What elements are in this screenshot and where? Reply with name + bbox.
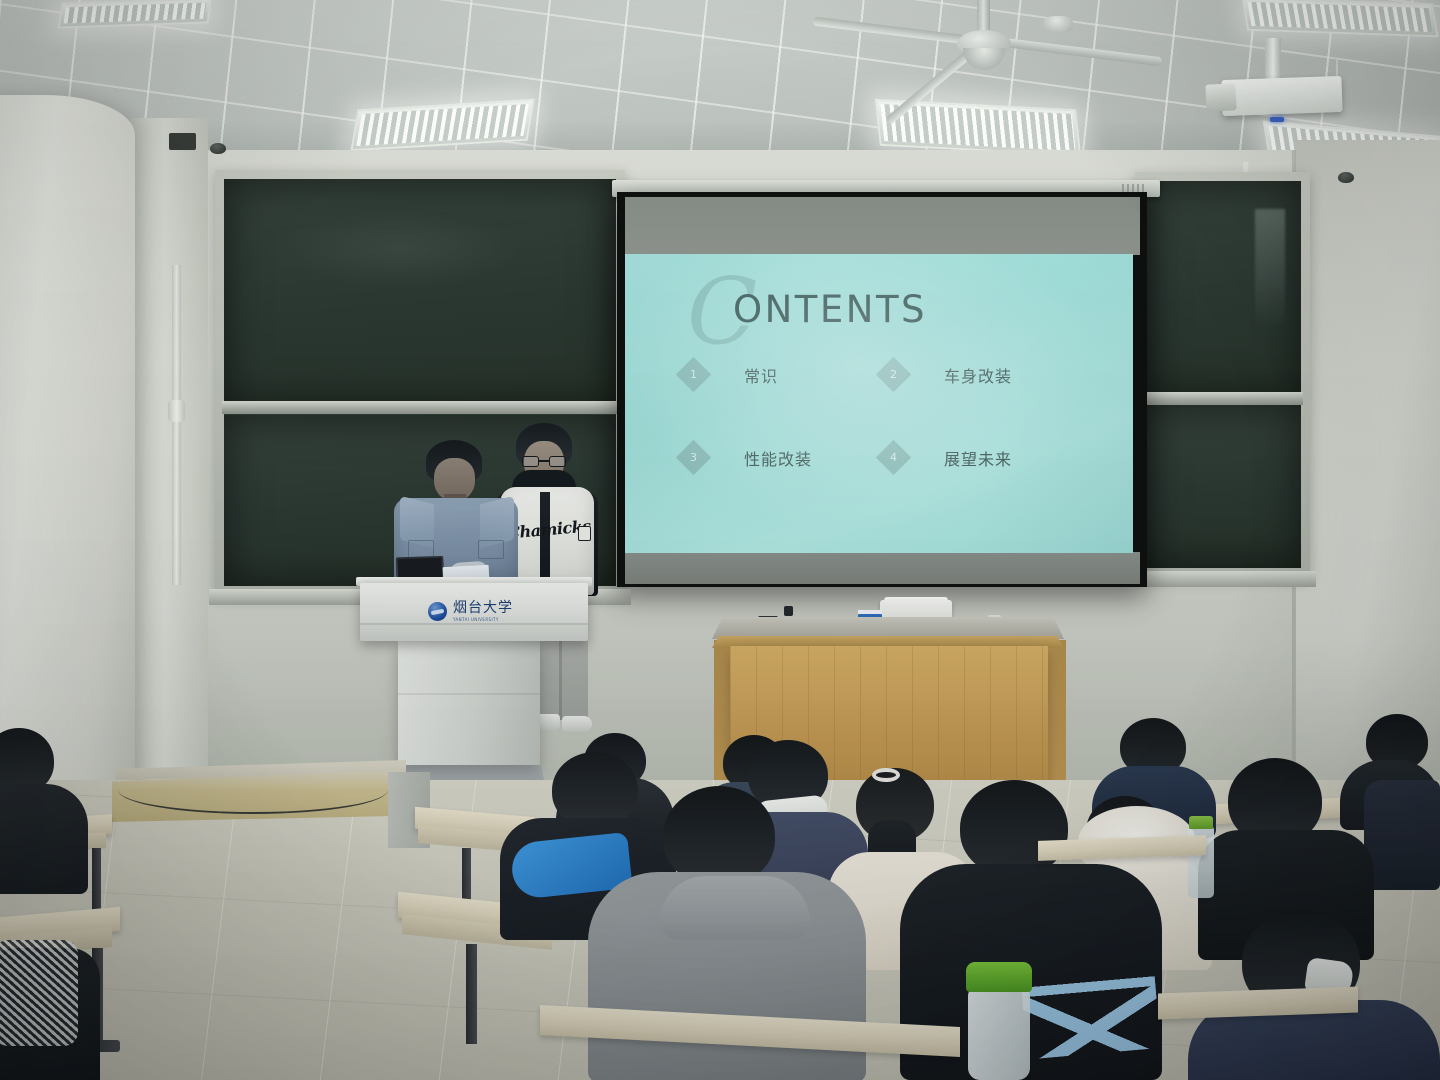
podium-seam xyxy=(398,693,540,695)
jacket-pocket xyxy=(478,540,504,559)
jacket-blue-pattern xyxy=(1017,928,1161,1059)
smoke-detector-icon xyxy=(1043,16,1073,33)
item-label: 性能改装 xyxy=(744,446,812,470)
student-head xyxy=(663,786,775,886)
ceiling-fan-pole xyxy=(977,0,990,34)
bottle-cap xyxy=(1189,816,1213,829)
slide-contents-item: 3 性能改装 xyxy=(681,445,881,470)
bottle-cap xyxy=(966,962,1032,992)
presenter-shoe xyxy=(562,716,592,732)
slide-title: ONTENTS xyxy=(733,288,927,331)
item-number: 4 xyxy=(890,451,897,464)
slide-contents-item: 4 展望未来 xyxy=(881,445,1081,470)
diamond-marker-icon: 4 xyxy=(876,440,911,475)
item-number: 2 xyxy=(890,368,897,381)
student-body xyxy=(0,784,88,894)
desk-leg xyxy=(466,944,477,1044)
blackboard-rail xyxy=(1142,392,1303,405)
university-emblem-icon xyxy=(428,602,447,621)
sport-bottle xyxy=(968,986,1030,1080)
university-name-cn: 烟台大学 xyxy=(453,601,513,615)
ceiling-bracket xyxy=(169,133,196,150)
security-camera-icon xyxy=(210,143,226,154)
wall-pipe xyxy=(172,265,181,585)
university-logo: 烟台大学 YANTAI UNIVERSITY xyxy=(428,601,513,622)
slide-contents-row: 3 性能改装 4 展望未来 xyxy=(681,445,1081,470)
pipe-fitting xyxy=(168,400,185,422)
student-head xyxy=(552,752,638,828)
student-head xyxy=(960,780,1068,876)
diamond-marker-icon: 3 xyxy=(676,440,711,475)
diamond-marker-icon: 2 xyxy=(876,357,911,392)
column-side-face xyxy=(130,118,208,848)
slide-contents-item: 1 常识 xyxy=(681,362,881,387)
diamond-marker-icon: 1 xyxy=(676,357,711,392)
hood xyxy=(660,876,810,940)
item-number: 3 xyxy=(690,451,697,464)
desk-microphone xyxy=(784,606,793,616)
blackboard-upper-panel xyxy=(1144,181,1301,398)
screen-unlit-top xyxy=(625,197,1140,255)
podium-body xyxy=(398,641,540,765)
slide-contents-row: 1 常识 2 车身改装 xyxy=(681,362,1081,387)
projector-lens-icon xyxy=(1205,83,1236,112)
chalk-smudge xyxy=(279,211,522,288)
classroom-scene: C ONTENTS 1 常识 2 车身改装 xyxy=(0,0,1440,1080)
backpack xyxy=(1364,780,1440,890)
pants-seam xyxy=(559,632,562,720)
jacket-patch xyxy=(578,526,591,541)
university-name-en: YANTAI UNIVERSITY xyxy=(453,617,513,622)
ceiling-projector xyxy=(1221,76,1342,116)
security-camera-icon xyxy=(1338,172,1354,183)
projector-power-led xyxy=(1270,117,1284,122)
blackboard-surface xyxy=(1144,181,1301,568)
item-label: 常识 xyxy=(744,363,778,387)
slide-contents-list: 1 常识 2 车身改装 3 性能改装 xyxy=(681,362,1081,528)
blackboard-right xyxy=(1135,172,1310,577)
glasses-icon xyxy=(522,456,566,467)
teacher-desk-top xyxy=(712,617,1064,639)
blackboard-lower-panel xyxy=(1144,405,1301,568)
slide-contents-item: 2 车身改装 xyxy=(881,362,1081,387)
item-label: 车身改装 xyxy=(944,363,1012,387)
chalk-residue xyxy=(1255,209,1285,329)
blackboard-upper-panel xyxy=(224,179,616,407)
screen-unlit-bottom xyxy=(625,552,1140,584)
podium-seam xyxy=(360,623,588,625)
item-label: 展望未来 xyxy=(944,446,1012,470)
hair-scrunchie xyxy=(872,768,900,782)
blackboard-chalk-tray xyxy=(1129,571,1316,587)
item-number: 1 xyxy=(690,368,697,381)
blackboard-rail xyxy=(222,401,618,414)
patterned-garment xyxy=(0,940,78,1046)
projected-slide: C ONTENTS 1 常识 2 车身改装 xyxy=(625,254,1133,553)
